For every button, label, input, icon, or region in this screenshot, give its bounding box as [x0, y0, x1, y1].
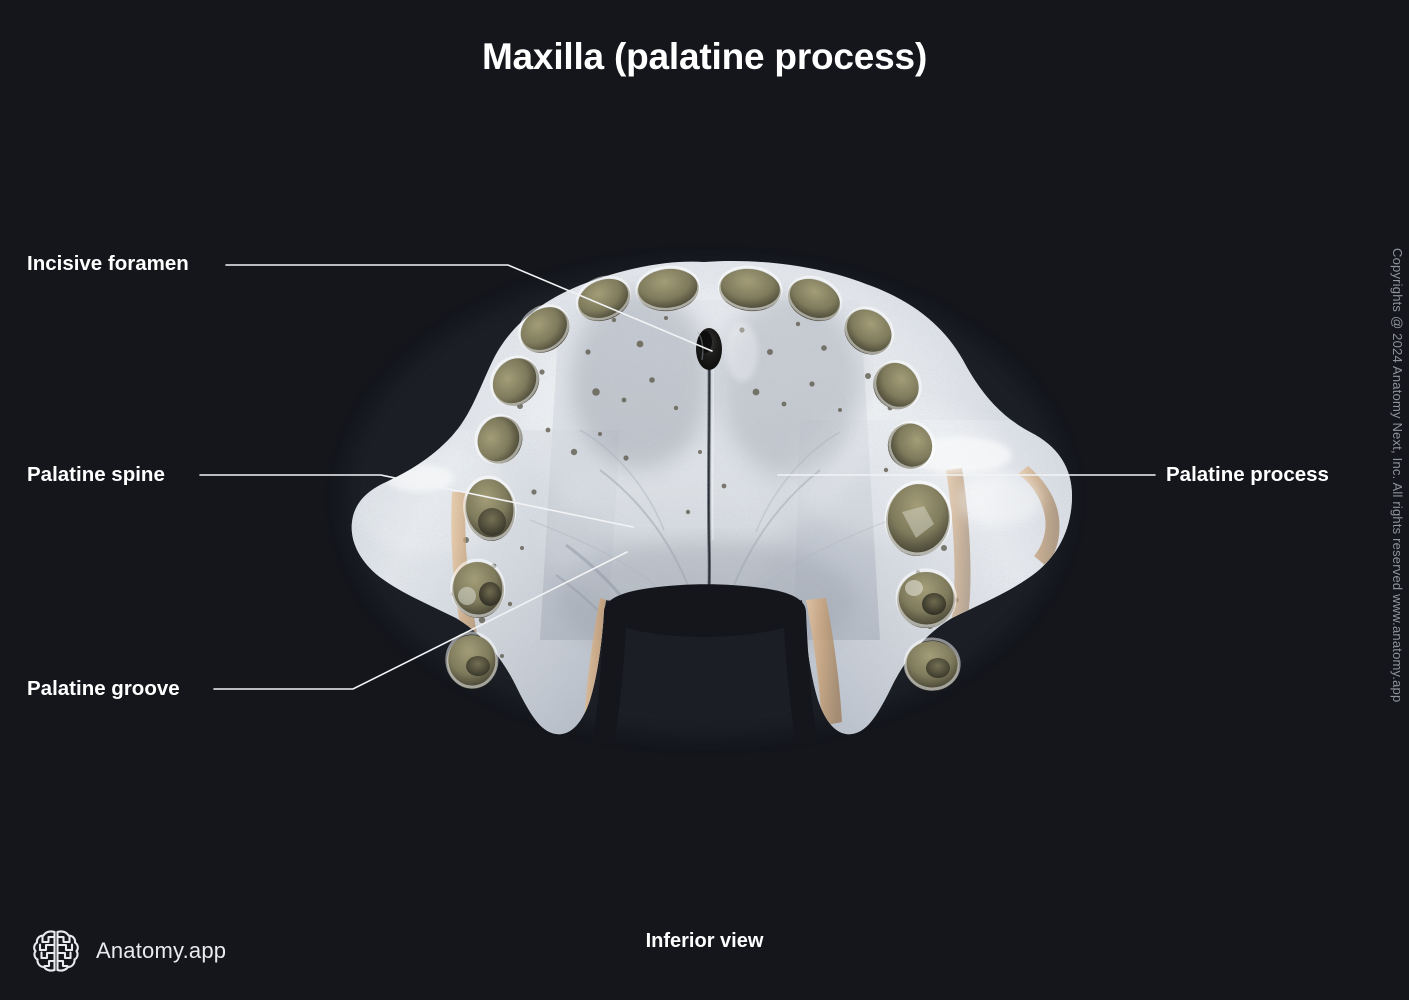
copyright-notice: Copyrights @ 2024 Anatomy Next, Inc. All…	[1390, 248, 1405, 702]
label-palatine-groove[interactable]: Palatine groove	[27, 677, 180, 701]
brain-icon	[30, 925, 82, 977]
brand-name: Anatomy.app	[96, 938, 226, 964]
label-palatine-spine[interactable]: Palatine spine	[27, 463, 165, 487]
figure-canvas: Maxilla (palatine process)	[0, 0, 1409, 1000]
maxilla-illustration	[0, 0, 1409, 1000]
label-palatine-process[interactable]: Palatine process	[1166, 463, 1329, 487]
label-incisive-foramen[interactable]: Incisive foramen	[27, 252, 189, 276]
brand-logo[interactable]: Anatomy.app	[30, 925, 226, 977]
